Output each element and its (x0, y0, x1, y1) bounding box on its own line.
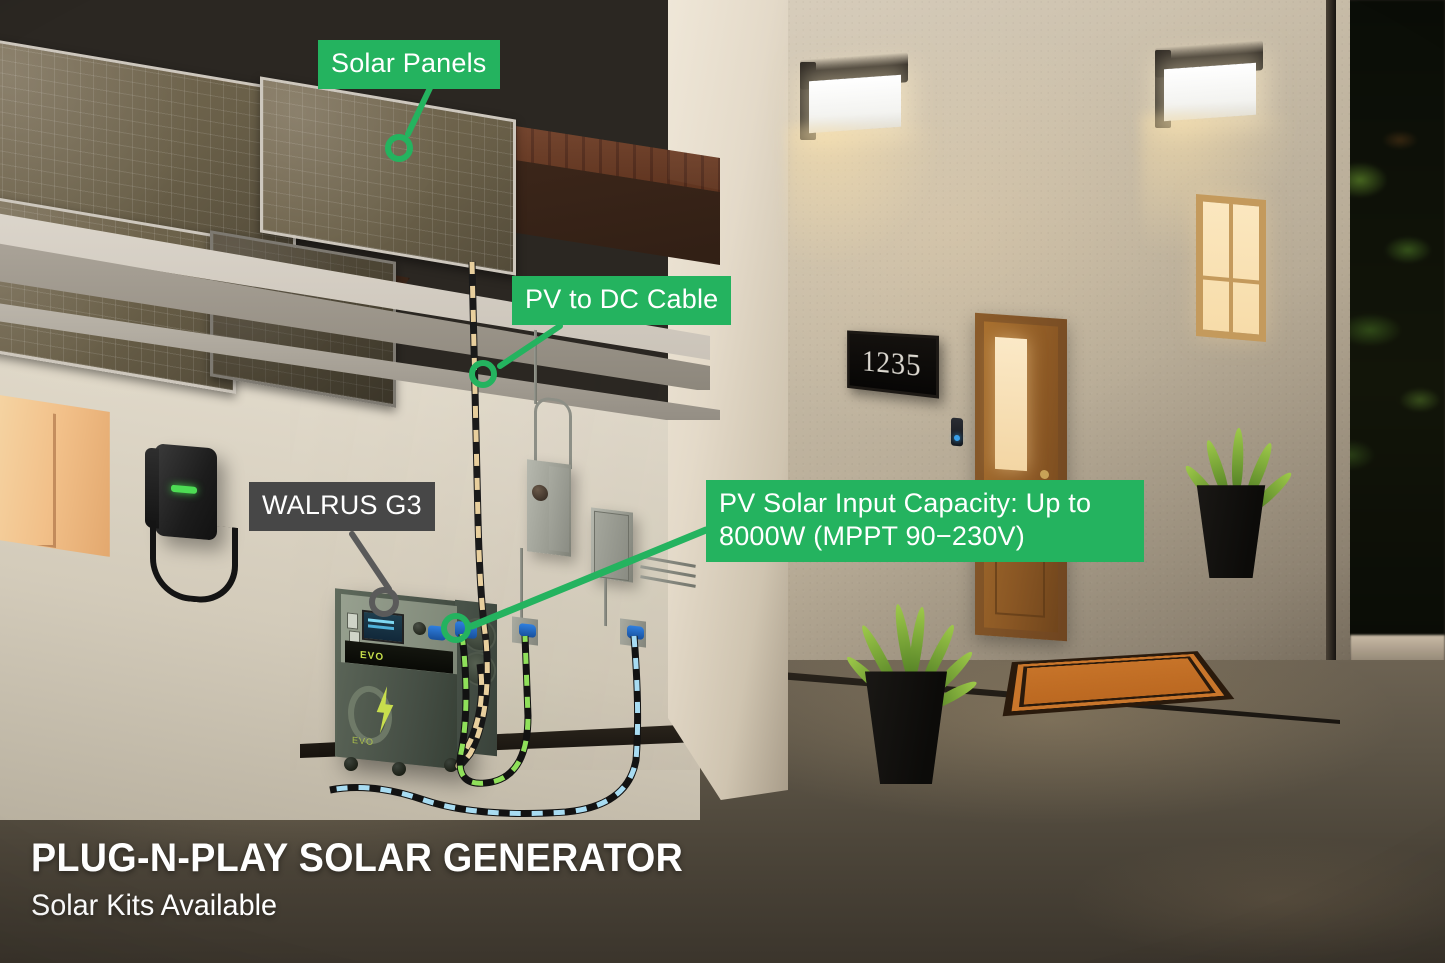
wall-right-edge (1326, 0, 1336, 700)
conduit-pipe (520, 548, 523, 626)
meter-dial (532, 484, 548, 502)
generator-input-plug (455, 621, 477, 639)
junction-box (591, 507, 633, 582)
conduit-bend (534, 396, 572, 470)
hero-subhead: Solar Kits Available (31, 889, 697, 923)
door-handle (1040, 470, 1049, 480)
house-number-text: 1235 (862, 343, 921, 384)
cable-plug (519, 623, 536, 638)
annotation-label-solar-panels[interactable]: Solar Panels (318, 40, 500, 89)
generator-caster (344, 757, 358, 771)
wall-sconce-light (1155, 44, 1263, 114)
garage-opening-frame (0, 402, 56, 548)
door-glass-pane (995, 337, 1027, 471)
wall-sconce-light (800, 56, 908, 142)
plant-pot (852, 671, 960, 784)
conduit-pipe (604, 578, 607, 626)
plant-leaf (1231, 427, 1244, 495)
generator-caster (444, 758, 458, 772)
annotation-label-pv-to-dc-cable[interactable]: PV to DC Cable (512, 276, 731, 325)
potted-plant (1186, 418, 1276, 578)
generator-display[interactable] (362, 610, 404, 644)
electrical-meter-box (527, 459, 571, 556)
promo-image: 1235 (0, 0, 1445, 963)
charger-status-led (171, 485, 197, 494)
house-number-plaque: 1235 (847, 330, 939, 398)
annotation-label-pv-solar-input-capacity[interactable]: PV Solar Input Capacity: Up to 8000W (MP… (706, 480, 1144, 562)
hero-text-block: PLUG-N-PLAY SOLAR GENERATOR Solar Kits A… (31, 836, 725, 923)
corner-pillar (668, 0, 788, 800)
doorbell-icon (951, 418, 963, 447)
junction-box-door (594, 511, 629, 581)
meter-box-door (549, 466, 569, 552)
plant-pot (1186, 485, 1276, 578)
cable-plug (627, 625, 644, 640)
potted-plant (852, 590, 960, 784)
sconce-diffuser (1164, 63, 1256, 121)
generator-breaker-switch (347, 612, 358, 629)
sconce-diffuser (809, 75, 901, 133)
generator-caster (392, 762, 406, 776)
generator-output-plug (428, 625, 446, 641)
hero-headline: PLUG-N-PLAY SOLAR GENERATOR (31, 836, 683, 881)
exterior-window (1196, 194, 1266, 342)
conduit-pipe (534, 330, 537, 404)
generator-rotary-knob[interactable] (413, 621, 426, 635)
annotation-label-walrus-g3[interactable]: WALRUS G3 (249, 482, 435, 531)
